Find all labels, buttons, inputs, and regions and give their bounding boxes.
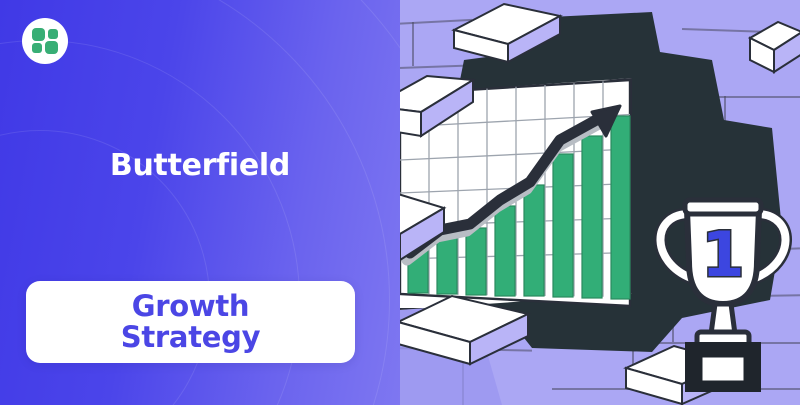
brand-name: Butterfield (0, 148, 400, 183)
chart-bar (466, 228, 486, 295)
brand-panel: Butterfield Growth Strategy (0, 0, 400, 405)
illustration-wall: 1 (352, 0, 800, 405)
logo-square-bottom-left (32, 43, 42, 53)
brand-logo[interactable] (22, 18, 68, 64)
trophy-icon: 1 (647, 192, 797, 392)
chart-bar (553, 154, 573, 297)
banner-canvas: 1 (0, 0, 800, 405)
chart-bar (495, 206, 515, 296)
chart-bar (524, 185, 544, 296)
title-card: Growth Strategy (26, 281, 355, 363)
floating-brick (748, 20, 800, 80)
logo-square-top-right (48, 29, 58, 39)
svg-text:1: 1 (701, 218, 744, 291)
card-title: Growth Strategy (121, 291, 260, 354)
card-title-line-1: Growth (121, 291, 260, 322)
four-square-grid-icon (32, 28, 58, 54)
floating-brick (448, 0, 568, 70)
chart-bar (611, 116, 630, 299)
trophy-rank-numeral: 1 (701, 218, 744, 291)
logo-square-top-left (32, 28, 45, 41)
floating-brick (392, 292, 532, 378)
logo-square-bottom-right (45, 41, 58, 54)
trophy-plaque (701, 356, 745, 382)
card-title-line-2: Strategy (121, 322, 260, 353)
chart-bar (582, 136, 602, 298)
